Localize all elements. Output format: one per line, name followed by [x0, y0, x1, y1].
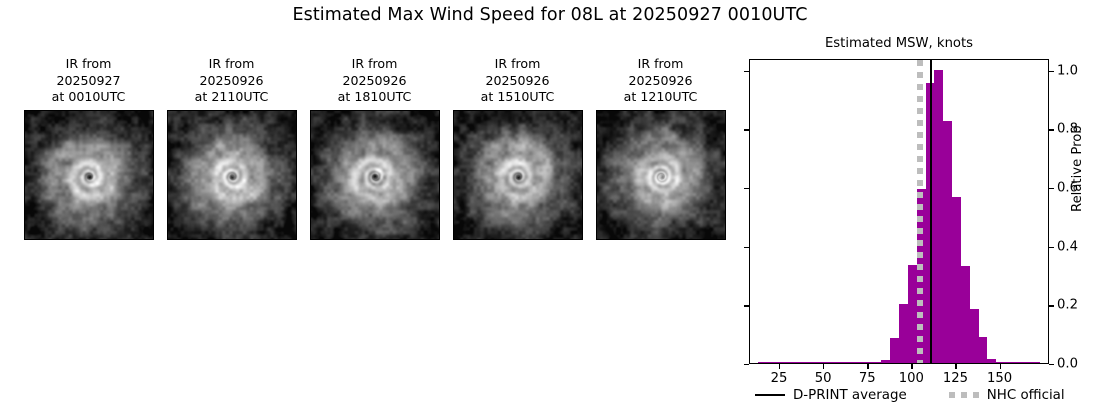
ir-panel-3: IR from 20250926 at 1810UTC: [308, 56, 441, 281]
annotation-lines: [750, 60, 1048, 363]
ir-satellite-image-bitmap: [168, 111, 296, 239]
ir-panel-caption: IR from 20250926 at 1810UTC: [338, 56, 412, 106]
y-tick-left: [744, 247, 749, 248]
y-tick-left: [744, 305, 749, 306]
y-tick-label: 0.0: [1057, 357, 1078, 372]
satellite-image-strip: IR from 20250927 at 0010UTCIR from 20250…: [22, 56, 737, 281]
y-axis-label: Relative Prob: [1070, 125, 1085, 212]
ir-satellite-image: [167, 110, 297, 240]
ir-satellite-image-bitmap: [25, 111, 153, 239]
nhc-official-line: [917, 60, 923, 363]
ir-panel-caption: IR from 20250926 at 2110UTC: [195, 56, 269, 106]
plot-frame: [749, 59, 1049, 364]
x-tick: [911, 364, 912, 369]
legend-entry: D-PRINT average: [755, 388, 907, 403]
y-tick-left: [744, 188, 749, 189]
y-tick-left: [744, 364, 749, 365]
ir-panel-1: IR from 20250927 at 0010UTC: [22, 56, 155, 281]
ir-satellite-image-bitmap: [311, 111, 439, 239]
x-tick: [1000, 364, 1001, 369]
x-tick: [867, 364, 868, 369]
ir-panel-caption: IR from 20250927 at 0010UTC: [52, 56, 126, 106]
x-tick: [779, 364, 780, 369]
chart-title: Estimated MSW, knots: [749, 36, 1049, 51]
ir-satellite-image: [310, 110, 440, 240]
ir-satellite-image: [596, 110, 726, 240]
ir-panel-caption: IR from 20250926 at 1510UTC: [481, 56, 555, 106]
chart-legend: D-PRINT averageNHC official: [749, 384, 1079, 406]
ir-panel-4: IR from 20250926 at 1510UTC: [451, 56, 584, 281]
y-tick-left: [744, 71, 749, 72]
legend-label: NHC official: [987, 388, 1065, 403]
ir-satellite-image: [24, 110, 154, 240]
dprint-average-line: [930, 60, 932, 363]
histogram-chart: 2550751001251500.00.20.40.60.81.0: [749, 59, 1049, 364]
ir-satellite-image-bitmap: [454, 111, 582, 239]
y-tick: [1049, 364, 1054, 365]
ir-panel-caption: IR from 20250926 at 1210UTC: [624, 56, 698, 106]
ir-panel-2: IR from 20250926 at 2110UTC: [165, 56, 298, 281]
legend-solid-line-icon: [755, 394, 785, 396]
legend-entry: NHC official: [949, 388, 1065, 403]
y-tick-label: 0.4: [1057, 239, 1078, 254]
y-tick-label: 0.2: [1057, 298, 1078, 313]
ir-panel-5: IR from 20250926 at 1210UTC: [594, 56, 727, 281]
ir-satellite-image-bitmap: [597, 111, 725, 239]
x-tick: [955, 364, 956, 369]
y-tick: [1049, 71, 1054, 72]
x-tick: [823, 364, 824, 369]
legend-dotted-line-icon: [949, 392, 979, 398]
y-tick-left: [744, 129, 749, 130]
y-tick: [1049, 129, 1054, 130]
y-tick: [1049, 247, 1054, 248]
y-tick: [1049, 305, 1054, 306]
y-tick: [1049, 188, 1054, 189]
legend-label: D-PRINT average: [793, 388, 907, 403]
page-title: Estimated Max Wind Speed for 08L at 2025…: [0, 5, 1100, 25]
ir-satellite-image: [453, 110, 583, 240]
y-tick-label: 1.0: [1057, 63, 1078, 78]
